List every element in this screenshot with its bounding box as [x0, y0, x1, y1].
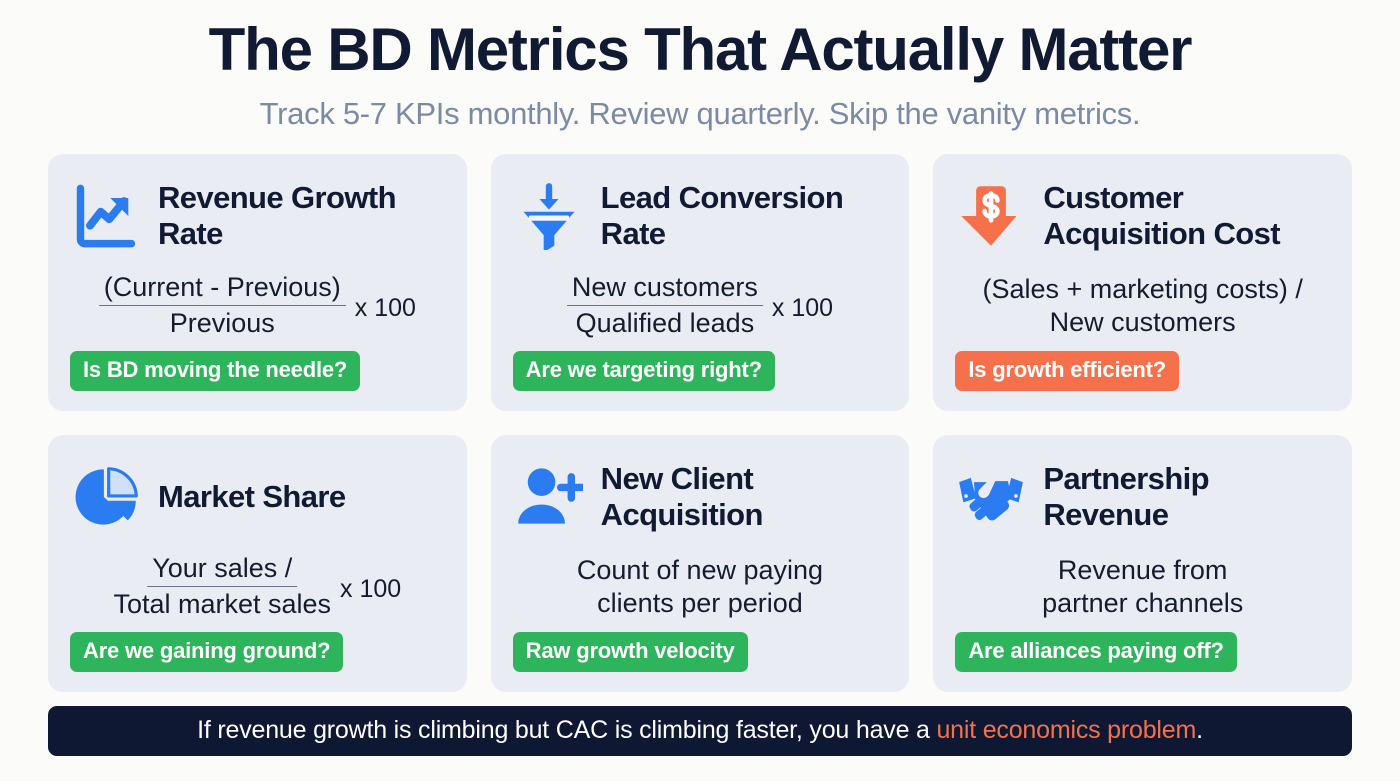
fraction: New customers Qualified leads x 100 [567, 272, 833, 340]
formula-line-1: Revenue from [1042, 554, 1243, 587]
status-badge[interactable]: Are we gaining ground? [70, 632, 343, 672]
card-title: Revenue Growth Rate [158, 180, 445, 252]
metric-card-partnership-revenue[interactable]: Partnership Revenue Revenue from partner… [933, 435, 1352, 692]
funnel-icon [513, 180, 585, 252]
badge-row: Is growth efficient? [955, 351, 1330, 411]
card-header: Market Share [70, 455, 445, 539]
header: The BD Metrics That Actually Matter Trac… [48, 18, 1352, 132]
infographic-page: The BD Metrics That Actually Matter Trac… [0, 0, 1400, 781]
card-title: Partnership Revenue [1043, 461, 1330, 533]
fraction-multiplier: x 100 [340, 575, 401, 604]
badge-row: Are we gaining ground? [70, 632, 445, 692]
card-formula: Count of new paying clients per period [513, 539, 888, 632]
formula-line-2: clients per period [577, 587, 823, 620]
metric-card-lead-conversion-rate[interactable]: Lead Conversion Rate New customers Quali… [491, 154, 910, 411]
metrics-grid: Revenue Growth Rate (Current - Previous)… [48, 154, 1352, 692]
fraction-denominator: Qualified leads [576, 306, 755, 340]
fraction-multiplier: x 100 [772, 294, 833, 323]
card-header: Lead Conversion Rate [513, 174, 888, 258]
status-badge[interactable]: Are alliances paying off? [955, 632, 1236, 672]
badge-row: Raw growth velocity [513, 632, 888, 692]
fraction: (Current - Previous) Previous x 100 [99, 272, 416, 340]
fraction-numerator: Your sales / [147, 553, 297, 587]
card-header: Customer Acquisition Cost [955, 174, 1330, 258]
fraction-denominator: Previous [170, 306, 275, 340]
metric-card-market-share[interactable]: Market Share Your sales / Total market s… [48, 435, 467, 692]
page-title: The BD Metrics That Actually Matter [48, 18, 1352, 83]
handshake-icon [955, 461, 1027, 533]
badge-row: Are we targeting right? [513, 351, 888, 411]
footer-accent-text: unit economics problem [936, 716, 1196, 744]
person-plus-icon [513, 461, 585, 533]
badge-row: Are alliances paying off? [955, 632, 1330, 692]
card-formula: Your sales / Total market sales x 100 [70, 539, 445, 632]
formula-text: Revenue from partner channels [1042, 554, 1243, 620]
status-badge[interactable]: Is BD moving the needle? [70, 351, 360, 391]
badge-row: Is BD moving the needle? [70, 351, 445, 411]
footer-banner: If revenue growth is climbing but CAC is… [48, 706, 1352, 756]
page-subtitle: Track 5-7 KPIs monthly. Review quarterly… [48, 95, 1352, 132]
status-badge[interactable]: Are we targeting right? [513, 351, 775, 391]
fraction-stack: New customers Qualified leads [567, 272, 763, 340]
card-header: New Client Acquisition [513, 455, 888, 539]
status-badge[interactable]: Is growth efficient? [955, 351, 1179, 391]
formula-line-2: New customers [982, 306, 1302, 339]
formula-text: Count of new paying clients per period [577, 554, 823, 620]
footer-text: If revenue growth is climbing but CAC is… [197, 716, 1203, 745]
footer-text-after: . [1196, 716, 1203, 744]
footer-text-before: If revenue growth is climbing but CAC is… [197, 716, 936, 744]
metric-card-revenue-growth-rate[interactable]: Revenue Growth Rate (Current - Previous)… [48, 154, 467, 411]
formula-line-1: Count of new paying [577, 554, 823, 587]
fraction-stack: (Current - Previous) Previous [99, 272, 346, 340]
card-header: Partnership Revenue [955, 455, 1330, 539]
formula-line-2: partner channels [1042, 587, 1243, 620]
card-title: Customer Acquisition Cost [1043, 180, 1330, 252]
metric-card-customer-acquisition-cost[interactable]: Customer Acquisition Cost (Sales + marke… [933, 154, 1352, 411]
fraction-denominator: Total market sales [113, 587, 331, 621]
metric-card-new-client-acquisition[interactable]: New Client Acquisition Count of new payi… [491, 435, 910, 692]
card-title: Lead Conversion Rate [601, 180, 888, 252]
fraction-numerator: New customers [567, 272, 763, 306]
status-badge[interactable]: Raw growth velocity [513, 632, 748, 672]
card-formula: New customers Qualified leads x 100 [513, 258, 888, 351]
fraction: Your sales / Total market sales x 100 [113, 553, 401, 621]
pie-chart-icon [70, 461, 142, 533]
fraction-multiplier: x 100 [355, 294, 416, 323]
line-chart-up-icon [70, 180, 142, 252]
fraction-stack: Your sales / Total market sales [113, 553, 331, 621]
card-formula: (Current - Previous) Previous x 100 [70, 258, 445, 351]
dollar-down-arrow-icon [955, 180, 1027, 252]
card-header: Revenue Growth Rate [70, 174, 445, 258]
card-formula: (Sales + marketing costs) / New customer… [955, 258, 1330, 351]
formula-line-1: (Sales + marketing costs) / [982, 273, 1302, 306]
fraction-numerator: (Current - Previous) [99, 272, 346, 306]
formula-text: (Sales + marketing costs) / New customer… [982, 273, 1302, 339]
card-title: New Client Acquisition [601, 461, 888, 533]
card-formula: Revenue from partner channels [955, 539, 1330, 632]
card-title: Market Share [158, 479, 445, 515]
